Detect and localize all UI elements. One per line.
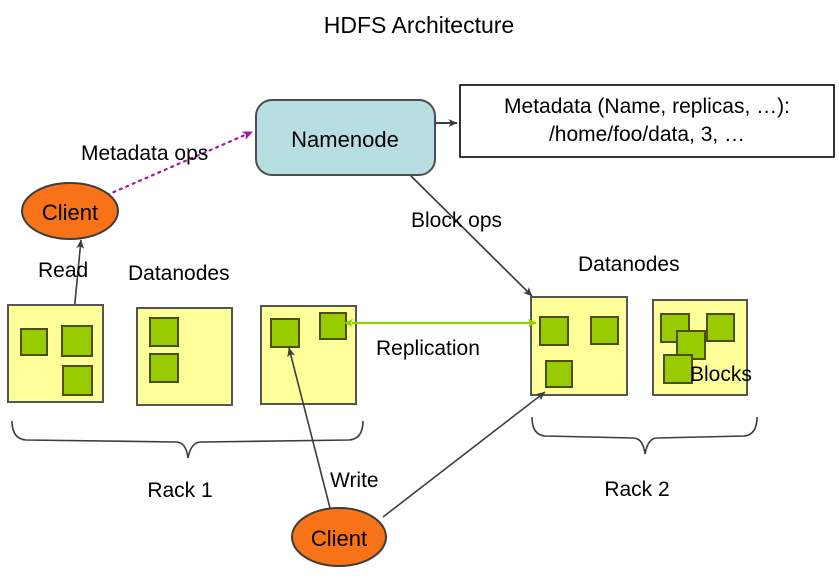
block-4-2 — [591, 317, 618, 344]
block-3-1 — [271, 319, 299, 347]
metadata-line-2: /home/foo/data, 3, … — [549, 123, 745, 146]
metadata-ops-label: Metadata ops — [81, 142, 208, 165]
rack2-brace — [532, 417, 757, 454]
block-5-4 — [664, 355, 692, 383]
read-label: Read — [38, 259, 88, 282]
block-2-1 — [150, 318, 178, 346]
page-title: HDFS Architecture — [324, 12, 514, 38]
block-5-2 — [707, 314, 734, 341]
block-4-1 — [540, 317, 568, 345]
replication-label: Replication — [376, 337, 480, 360]
metadata-line-1: Metadata (Name, replicas, …): — [504, 95, 790, 118]
block-2-2 — [150, 354, 178, 382]
datanodes-label-right: Datanodes — [578, 253, 680, 276]
namenode-box[interactable]: Namenode — [256, 100, 435, 175]
block-1-3 — [63, 366, 92, 395]
block-3-2 — [320, 313, 346, 339]
block-1-2 — [62, 326, 92, 356]
diagram-canvas: HDFS Architecture Metadata (Name, replic… — [0, 0, 839, 580]
datanode-2[interactable] — [137, 308, 232, 405]
datanode-1[interactable] — [8, 305, 103, 402]
rack1-brace — [12, 421, 363, 458]
datanode-4[interactable] — [531, 297, 627, 395]
block-ops-label: Block ops — [411, 209, 502, 232]
datanodes-label-left: Datanodes — [128, 262, 230, 285]
rack1-label: Rack 1 — [147, 479, 212, 502]
client-top-label: Client — [42, 200, 98, 225]
namenode-label: Namenode — [291, 127, 399, 152]
client-bottom-label: Client — [311, 526, 367, 551]
block-1-1 — [21, 329, 47, 355]
write-label: Write — [330, 469, 379, 492]
metadata-box: Metadata (Name, replicas, …): /home/foo/… — [460, 85, 834, 157]
rack2-label: Rack 2 — [604, 478, 669, 501]
datanode-3[interactable] — [261, 306, 356, 404]
client-top[interactable]: Client — [22, 183, 118, 239]
block-ops-arrow — [411, 176, 532, 296]
hdfs-architecture-diagram: HDFS Architecture Metadata (Name, replic… — [0, 0, 839, 580]
write-replica-arrow — [383, 392, 545, 517]
blocks-label: Blocks — [690, 363, 752, 386]
client-bottom[interactable]: Client — [292, 508, 386, 566]
block-4-3 — [546, 361, 572, 387]
